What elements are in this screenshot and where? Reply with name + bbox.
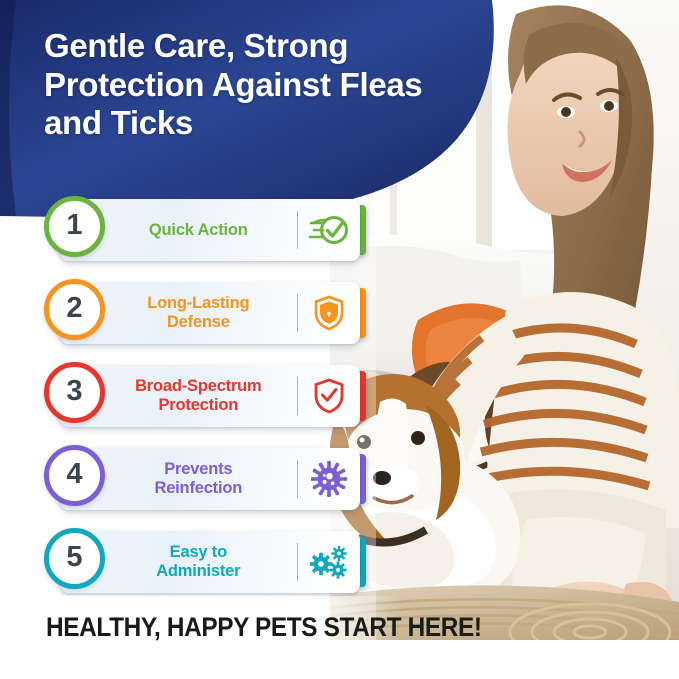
feature-number: 5 bbox=[66, 543, 82, 574]
feature-number-badge: 1 bbox=[44, 196, 105, 257]
feature-number: 3 bbox=[66, 377, 82, 408]
feature-number: 1 bbox=[66, 211, 82, 242]
footer-bar bbox=[0, 640, 679, 679]
feature-row[interactable]: Broad-Spectrum Protection 3 bbox=[0, 362, 390, 430]
feature-number: 2 bbox=[66, 294, 82, 325]
virus-icon bbox=[298, 448, 360, 510]
shield-check-icon bbox=[298, 365, 360, 427]
title-text: Gentle Care, Strong Protection Against F… bbox=[44, 27, 474, 143]
feature-number: 4 bbox=[66, 460, 82, 491]
feature-row[interactable]: Prevents Reinfection bbox=[0, 445, 390, 513]
feature-row[interactable]: Easy to Administer bbox=[0, 528, 390, 596]
feature-card[interactable]: Quick Action bbox=[60, 199, 360, 261]
page-title: Gentle Care, Strong Protection Against F… bbox=[44, 27, 474, 143]
shield-lock-icon bbox=[298, 282, 360, 344]
promo-poster: Gentle Care, Strong Protection Against F… bbox=[0, 0, 679, 679]
feature-number-badge: 4 bbox=[44, 445, 105, 506]
feature-card[interactable]: Prevents Reinfection bbox=[60, 448, 360, 510]
footer-tagline: HEALTHY, HAPPY PETS START HERE! bbox=[46, 612, 482, 643]
feature-list: Quick Action 1Long-Lasting Defense 2Broa… bbox=[0, 196, 390, 611]
feature-card[interactable]: Long-Lasting Defense bbox=[60, 282, 360, 344]
feature-card[interactable]: Easy to Administer bbox=[60, 531, 360, 593]
gears-icon bbox=[298, 531, 360, 593]
feature-number-badge: 3 bbox=[44, 362, 105, 423]
speed-check-icon bbox=[298, 199, 360, 261]
feature-row[interactable]: Quick Action 1 bbox=[0, 196, 390, 264]
feature-card[interactable]: Broad-Spectrum Protection bbox=[60, 365, 360, 427]
feature-number-badge: 5 bbox=[44, 528, 105, 589]
feature-number-badge: 2 bbox=[44, 279, 105, 340]
feature-row[interactable]: Long-Lasting Defense 2 bbox=[0, 279, 390, 347]
